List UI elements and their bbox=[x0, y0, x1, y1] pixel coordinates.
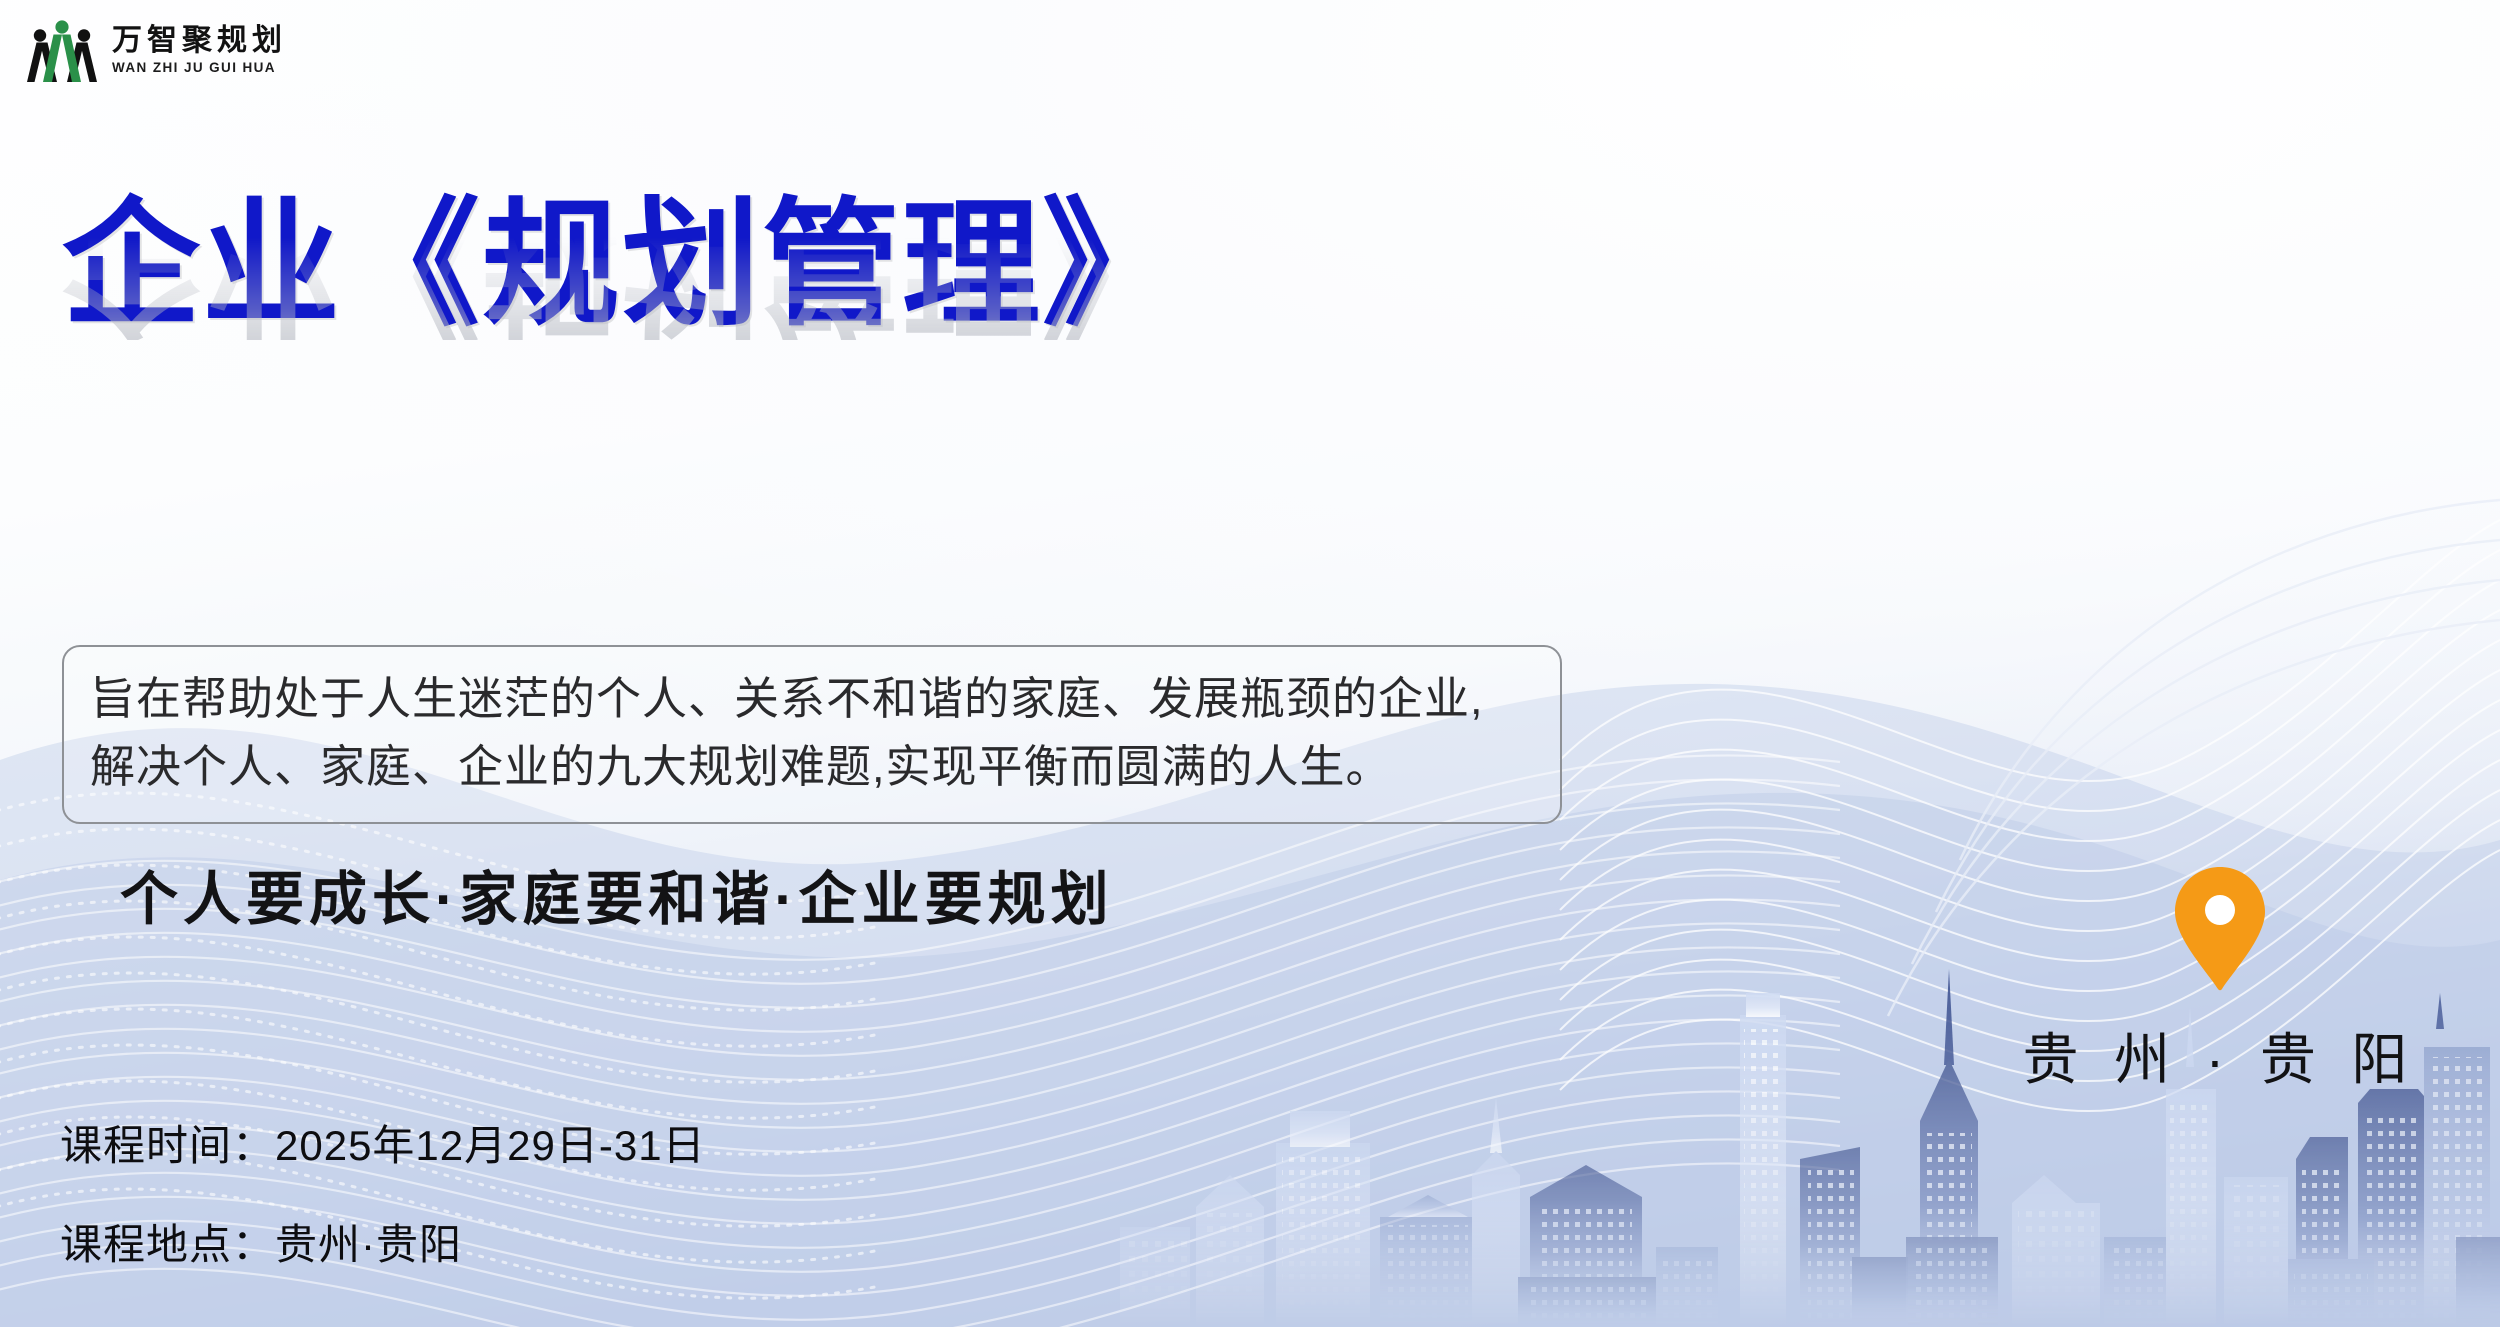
three-people-logo-icon bbox=[26, 14, 98, 86]
course-info: 课程时间：2025年12月29日-31日 课程地点：贵州·贵阳 bbox=[60, 1112, 706, 1310]
description-line-2: 解决个人、家庭、企业的九大规划难题,实现平衡而圆满的人生。 bbox=[90, 733, 1534, 801]
description-line-1: 旨在帮助处于人生迷茫的个人、关系不和谐的家庭、发展瓶颈的企业, bbox=[90, 665, 1534, 733]
poster-canvas: 万智聚规划 WAN ZHI JU GUI HUA 企业《规划管理》 企业《规划管… bbox=[0, 0, 2500, 1327]
title-block: 企业《规划管理》 企业《规划管理》 bbox=[62, 196, 1682, 452]
location-label: 贵 州 · 贵 阳 bbox=[2010, 1015, 2430, 1096]
brand-name-en: WAN ZHI JU GUI HUA bbox=[112, 60, 287, 75]
course-place: 课程地点：贵州·贵阳 bbox=[60, 1211, 706, 1272]
brand-wordmark: 万智聚规划 WAN ZHI JU GUI HUA bbox=[112, 25, 287, 75]
tagline: 个人要成长·家庭要和谐·企业要规划 bbox=[120, 852, 1114, 936]
brand-name-cn: 万智聚规划 bbox=[112, 25, 287, 57]
description-box: 旨在帮助处于人生迷茫的个人、关系不和谐的家庭、发展瓶颈的企业, 解决个人、家庭、… bbox=[62, 645, 1562, 824]
course-time: 课程时间：2025年12月29日-31日 bbox=[60, 1112, 706, 1173]
brand-logo: 万智聚规划 WAN ZHI JU GUI HUA bbox=[26, 14, 287, 86]
location-block: 贵 州 · 贵 阳 bbox=[2010, 865, 2430, 1096]
map-pin-icon bbox=[2172, 865, 2268, 993]
page-title-reflection: 企业《规划管理》 bbox=[62, 228, 1682, 340]
